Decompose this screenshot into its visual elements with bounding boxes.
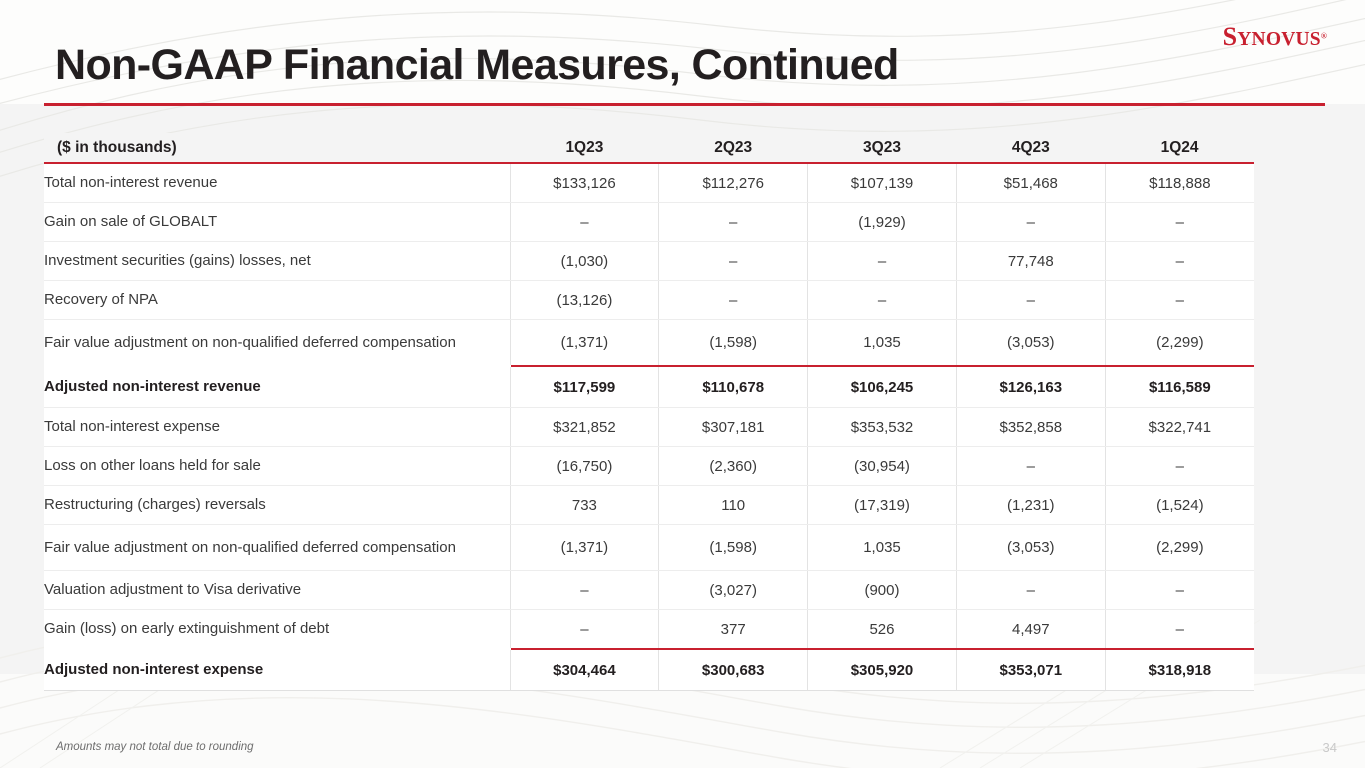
column-header-1q24: 1Q24	[1105, 133, 1254, 163]
row-label: Total non-interest expense	[44, 408, 510, 447]
table-cell: (1,231)	[956, 486, 1105, 525]
table-cell: –	[1105, 203, 1254, 242]
row-label: Restructuring (charges) reversals	[44, 486, 510, 525]
table-cell: $107,139	[808, 163, 957, 203]
non-gaap-table: ($ in thousands) 1Q23 2Q23 3Q23 4Q23 1Q2…	[44, 133, 1254, 691]
table-cell: $117,599	[510, 366, 659, 408]
footnote: Amounts may not total due to rounding	[56, 741, 254, 753]
table-row: Fair value adjustment on non-qualified d…	[44, 320, 1254, 367]
synovus-logo: SYNOVUS®	[1223, 24, 1327, 50]
table-cell: –	[1105, 447, 1254, 486]
table-cell: (13,126)	[510, 281, 659, 320]
table-cell: $353,532	[808, 408, 957, 447]
table-cell: –	[956, 447, 1105, 486]
table-cell: (2,299)	[1105, 320, 1254, 367]
page-number: 34	[1323, 740, 1337, 755]
row-label: Adjusted non-interest expense	[44, 649, 510, 691]
table-row: Fair value adjustment on non-qualified d…	[44, 525, 1254, 571]
title-underline-rule	[44, 103, 1325, 106]
column-header-4q23: 4Q23	[956, 133, 1105, 163]
row-label: Recovery of NPA	[44, 281, 510, 320]
table-cell: $352,858	[956, 408, 1105, 447]
table-cell: (3,027)	[659, 571, 808, 610]
table-header-row: ($ in thousands) 1Q23 2Q23 3Q23 4Q23 1Q2…	[44, 133, 1254, 163]
row-label: Gain on sale of GLOBALT	[44, 203, 510, 242]
table-cell: (1,524)	[1105, 486, 1254, 525]
table-cell: $126,163	[956, 366, 1105, 408]
row-label: Fair value adjustment on non-qualified d…	[44, 320, 510, 367]
table-cell: –	[659, 203, 808, 242]
table-cell: –	[659, 242, 808, 281]
table-cell: $305,920	[808, 649, 957, 691]
row-label: Valuation adjustment to Visa derivative	[44, 571, 510, 610]
table-cell: –	[510, 203, 659, 242]
table-row: Recovery of NPA(13,126)––––	[44, 281, 1254, 320]
table-row: Loss on other loans held for sale(16,750…	[44, 447, 1254, 486]
non-gaap-table-container: ($ in thousands) 1Q23 2Q23 3Q23 4Q23 1Q2…	[44, 133, 1254, 691]
table-cell: 526	[808, 610, 957, 650]
table-cell: 77,748	[956, 242, 1105, 281]
table-cell: (3,053)	[956, 320, 1105, 367]
table-cell: $321,852	[510, 408, 659, 447]
table-row: Total non-interest revenue$133,126$112,2…	[44, 163, 1254, 203]
table-cell: $322,741	[1105, 408, 1254, 447]
table-cell: –	[1105, 610, 1254, 650]
table-cell: 1,035	[808, 320, 957, 367]
table-cell: (3,053)	[956, 525, 1105, 571]
row-label: Adjusted non-interest revenue	[44, 366, 510, 408]
table-cell: $307,181	[659, 408, 808, 447]
table-cell: –	[1105, 571, 1254, 610]
table-cell: (900)	[808, 571, 957, 610]
logo-lead-letter: S	[1223, 22, 1238, 51]
table-cell: $116,589	[1105, 366, 1254, 408]
table-cell: 377	[659, 610, 808, 650]
table-cell: –	[808, 281, 957, 320]
table-cell: (16,750)	[510, 447, 659, 486]
table-cell: $112,276	[659, 163, 808, 203]
table-body: Total non-interest revenue$133,126$112,2…	[44, 163, 1254, 691]
table-cell: $51,468	[956, 163, 1105, 203]
table-cell: –	[510, 571, 659, 610]
table-cell: (1,030)	[510, 242, 659, 281]
table-cell: (1,371)	[510, 525, 659, 571]
table-cell: $133,126	[510, 163, 659, 203]
table-row: Investment securities (gains) losses, ne…	[44, 242, 1254, 281]
table-cell: –	[659, 281, 808, 320]
table-cell: (2,360)	[659, 447, 808, 486]
table-total-row: Adjusted non-interest revenue$117,599$11…	[44, 366, 1254, 408]
table-cell: $118,888	[1105, 163, 1254, 203]
column-header-3q23: 3Q23	[808, 133, 957, 163]
logo-text: YNOVUS	[1237, 29, 1321, 50]
slide: SYNOVUS® Non-GAAP Financial Measures, Co…	[0, 0, 1365, 768]
table-cell: (1,929)	[808, 203, 957, 242]
table-cell: –	[956, 281, 1105, 320]
table-cell: –	[956, 203, 1105, 242]
table-cell: $353,071	[956, 649, 1105, 691]
table-cell: 733	[510, 486, 659, 525]
table-cell: (17,319)	[808, 486, 957, 525]
table-cell: 4,497	[956, 610, 1105, 650]
column-header-1q23: 1Q23	[510, 133, 659, 163]
column-header-label: ($ in thousands)	[44, 133, 510, 163]
table-cell: $110,678	[659, 366, 808, 408]
row-label: Loss on other loans held for sale	[44, 447, 510, 486]
table-cell: –	[1105, 281, 1254, 320]
table-cell: $304,464	[510, 649, 659, 691]
table-row: Gain (loss) on early extinguishment of d…	[44, 610, 1254, 650]
table-cell: (1,371)	[510, 320, 659, 367]
table-cell: 110	[659, 486, 808, 525]
row-label: Fair value adjustment on non-qualified d…	[44, 525, 510, 571]
table-cell: 1,035	[808, 525, 957, 571]
row-label: Investment securities (gains) losses, ne…	[44, 242, 510, 281]
table-cell: $318,918	[1105, 649, 1254, 691]
table-cell: –	[956, 571, 1105, 610]
registered-trademark-icon: ®	[1321, 32, 1327, 41]
column-header-2q23: 2Q23	[659, 133, 808, 163]
table-cell: (2,299)	[1105, 525, 1254, 571]
table-cell: $106,245	[808, 366, 957, 408]
table-cell: (1,598)	[659, 525, 808, 571]
table-cell: –	[1105, 242, 1254, 281]
table-row: Gain on sale of GLOBALT––(1,929)––	[44, 203, 1254, 242]
table-cell: (1,598)	[659, 320, 808, 367]
table-total-row: Adjusted non-interest expense$304,464$30…	[44, 649, 1254, 691]
page-title: Non-GAAP Financial Measures, Continued	[55, 41, 899, 90]
table-row: Valuation adjustment to Visa derivative–…	[44, 571, 1254, 610]
table-cell: –	[808, 242, 957, 281]
table-row: Restructuring (charges) reversals733110(…	[44, 486, 1254, 525]
table-row: Total non-interest expense$321,852$307,1…	[44, 408, 1254, 447]
table-cell: –	[510, 610, 659, 650]
row-label: Gain (loss) on early extinguishment of d…	[44, 610, 510, 650]
table-cell: (30,954)	[808, 447, 957, 486]
table-cell: $300,683	[659, 649, 808, 691]
row-label: Total non-interest revenue	[44, 163, 510, 203]
